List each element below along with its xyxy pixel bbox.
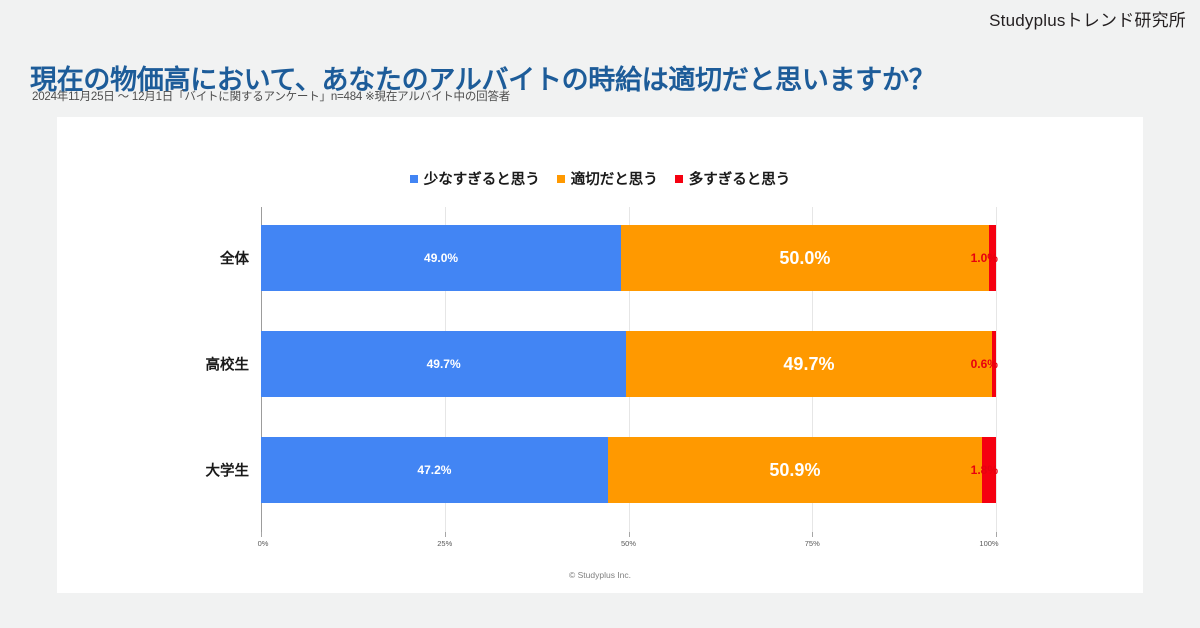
chart-card: 少なすぎると思う 適切だと思う 多すぎると思う 0% 25% 50% 75% 1… <box>57 117 1143 593</box>
x-axis-tick-label-25: 25% <box>437 539 452 548</box>
chart-bar-row: 高校生 49.7% 49.7% 0.6% <box>261 331 996 397</box>
bar-value-label: 49.7% <box>427 357 461 371</box>
x-axis-tick-label-100: 100% <box>979 539 998 548</box>
legend-label-too-low: 少なすぎると思う <box>424 168 540 189</box>
legend-label-too-high: 多すぎると思う <box>689 168 791 189</box>
legend-swatch-blue-icon <box>410 175 418 183</box>
legend-item-too-high[interactable]: 多すぎると思う <box>675 168 791 189</box>
chart-plot-area: 0% 25% 50% 75% 100% 全体 49.0% 50.0% 1.0% … <box>261 207 996 532</box>
legend-item-appropriate[interactable]: 適切だと思う <box>557 168 658 189</box>
bar-value-label: 49.0% <box>424 251 458 265</box>
bar-value-label: 50.9% <box>769 460 820 481</box>
legend-swatch-red-icon <box>675 175 683 183</box>
x-axis-tick-label-75: 75% <box>805 539 820 548</box>
chart-legend: 少なすぎると思う 適切だと思う 多すぎると思う <box>57 168 1143 189</box>
x-axis-tick-label-0: 0% <box>258 539 269 548</box>
category-label-2: 大学生 <box>206 460 250 481</box>
bar-segment-appropriate[interactable]: 49.7% <box>626 331 991 397</box>
bar-segment-appropriate[interactable]: 50.0% <box>621 225 989 291</box>
legend-swatch-orange-icon <box>557 175 565 183</box>
tickmark-25 <box>445 532 446 537</box>
bar-value-label: 50.0% <box>779 248 830 269</box>
chart-bar-row: 大学生 47.2% 50.9% 1.8% <box>261 437 996 503</box>
bar-segment-appropriate[interactable]: 50.9% <box>608 437 982 503</box>
bar-segment-too-high[interactable]: 1.0% <box>989 225 996 291</box>
category-label-0: 全体 <box>220 248 249 269</box>
legend-label-appropriate: 適切だと思う <box>571 168 658 189</box>
legend-item-too-low[interactable]: 少なすぎると思う <box>410 168 540 189</box>
bar-segment-too-low[interactable]: 49.0% <box>261 225 621 291</box>
category-label-1: 高校生 <box>206 354 250 375</box>
survey-meta-subtitle: 2024年11月25日 〜 12月1日「バイトに関するアンケート」n=484 ※… <box>32 88 510 104</box>
chart-bar-row: 全体 49.0% 50.0% 1.0% <box>261 225 996 291</box>
bar-value-label: 47.2% <box>417 463 451 477</box>
tickmark-100 <box>996 532 997 537</box>
tickmark-0 <box>261 532 262 537</box>
bar-value-label: 49.7% <box>783 354 834 375</box>
tickmark-75 <box>812 532 813 537</box>
bar-segment-too-low[interactable]: 47.2% <box>261 437 608 503</box>
gridline-100 <box>996 207 997 532</box>
bar-segment-too-low[interactable]: 49.7% <box>261 331 626 397</box>
brand-logo-text: Studyplusトレンド研究所 <box>989 6 1186 31</box>
copyright-footer: © Studyplus Inc. <box>57 570 1143 580</box>
x-axis-tick-label-50: 50% <box>621 539 636 548</box>
bar-segment-too-high[interactable]: 0.6% <box>992 331 996 397</box>
tickmark-50 <box>629 532 630 537</box>
bar-segment-too-high[interactable]: 1.8% <box>982 437 996 503</box>
